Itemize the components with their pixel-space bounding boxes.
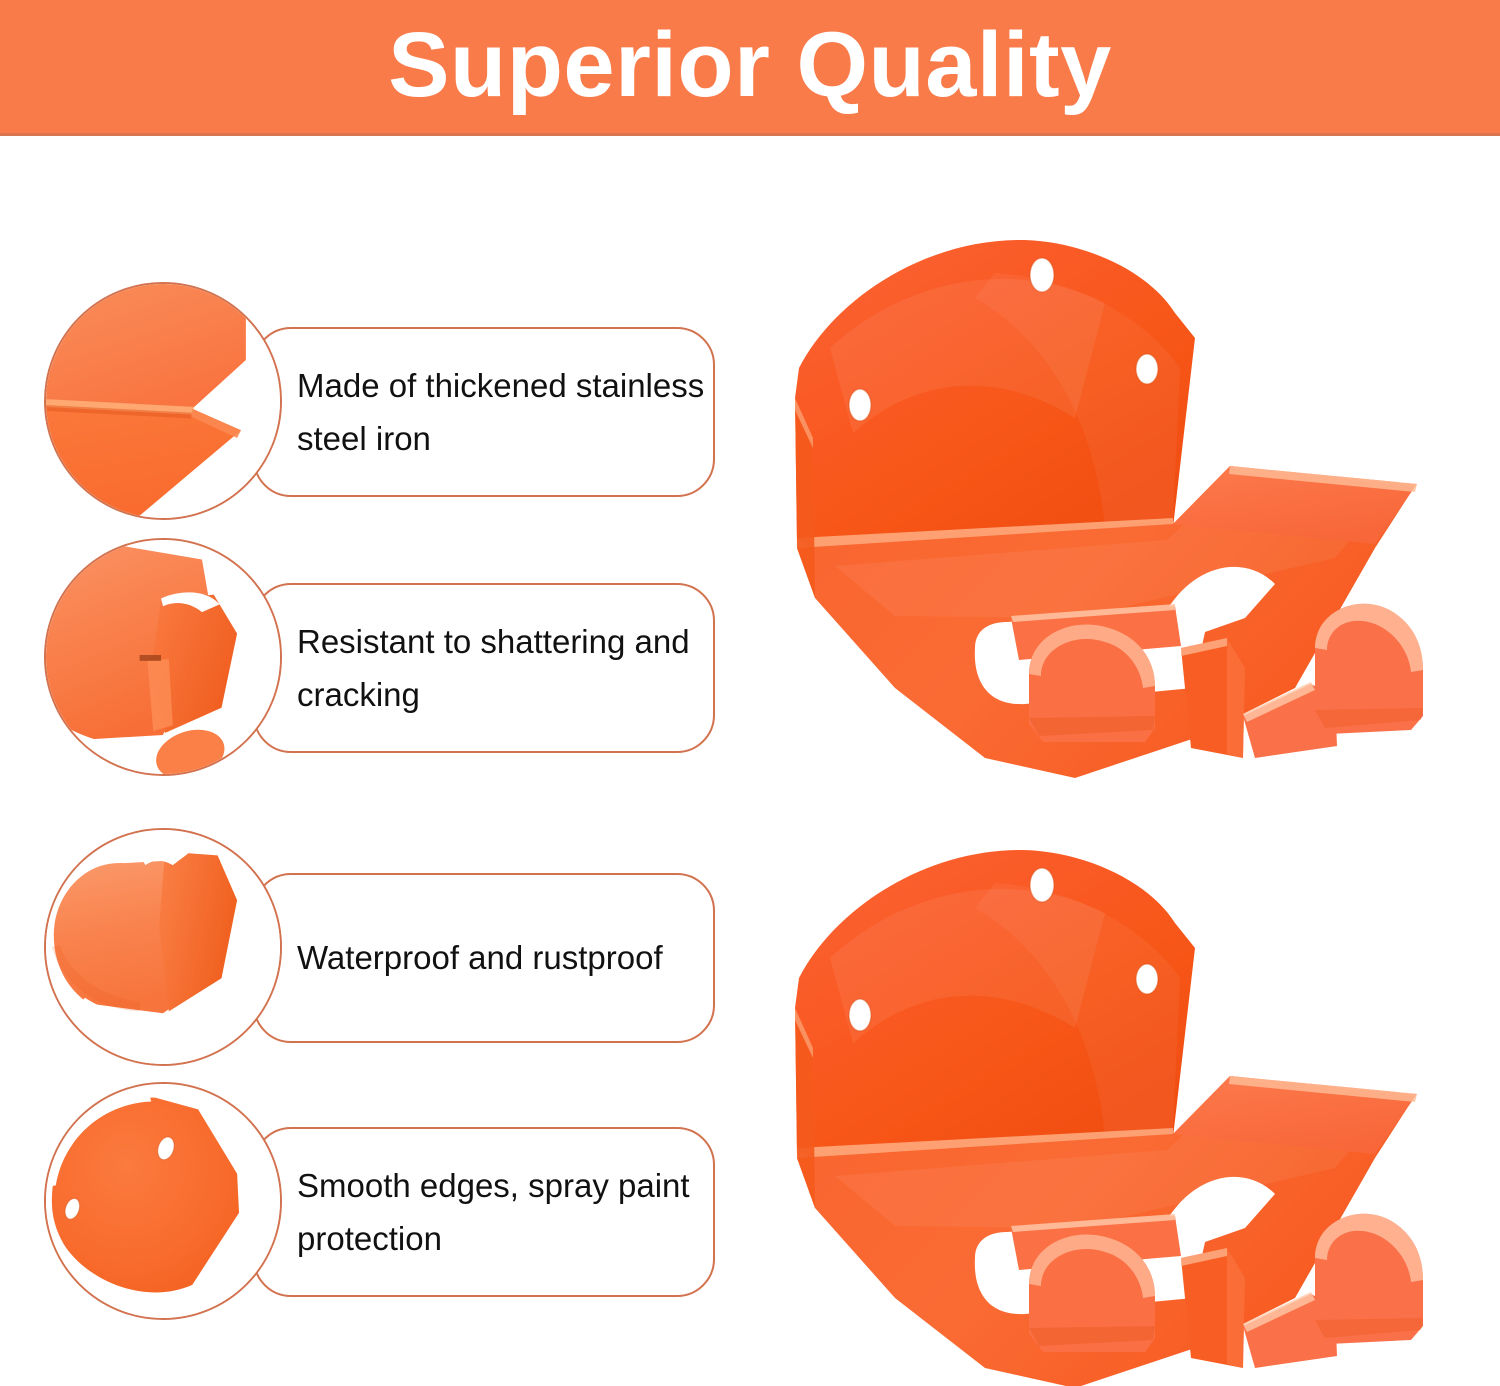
- callout-text-line: protection: [297, 1212, 697, 1265]
- feature-thumbnail-backplate-holes: [44, 1082, 282, 1320]
- callout-box: Resistant to shattering and cracking: [253, 583, 715, 753]
- callout-box: Made of thickened stainless steel iron: [253, 327, 715, 497]
- page-title: Superior Quality: [388, 19, 1112, 111]
- callout-text-line: steel iron: [297, 412, 697, 465]
- feature-row-thickened-steel: Made of thickened stainless steel iron: [0, 282, 760, 532]
- feature-row-smooth-edges: Smooth edges, spray paint protection: [0, 1082, 760, 1332]
- callout-text-line: Resistant to shattering and: [297, 615, 697, 668]
- callout-text-line: Waterproof and rustproof: [297, 931, 697, 984]
- callout-text-line: Made of thickened stainless: [297, 359, 697, 412]
- product-photo-bracket-bottom: [775, 828, 1475, 1386]
- callout-box: Waterproof and rustproof: [253, 873, 715, 1043]
- feature-thumbnail-rounded-hook-end: [44, 828, 282, 1066]
- callout-text-line: Smooth edges, spray paint: [297, 1159, 697, 1212]
- callout-box: Smooth edges, spray paint protection: [253, 1127, 715, 1297]
- product-photo-bracket-top: [775, 218, 1475, 798]
- callout-text-line: cracking: [297, 668, 697, 721]
- feature-thumbnail-folded-metal-edge: [44, 282, 282, 520]
- feature-row-shatter-resistant: Resistant to shattering and cracking: [0, 538, 760, 788]
- header-banner: Superior Quality: [0, 0, 1500, 136]
- feature-row-waterproof-rustproof: Waterproof and rustproof: [0, 828, 760, 1078]
- product-infographic: Superior Quality Made of thickened stain…: [0, 0, 1500, 1386]
- feature-thumbnail-hook-tab: [44, 538, 282, 776]
